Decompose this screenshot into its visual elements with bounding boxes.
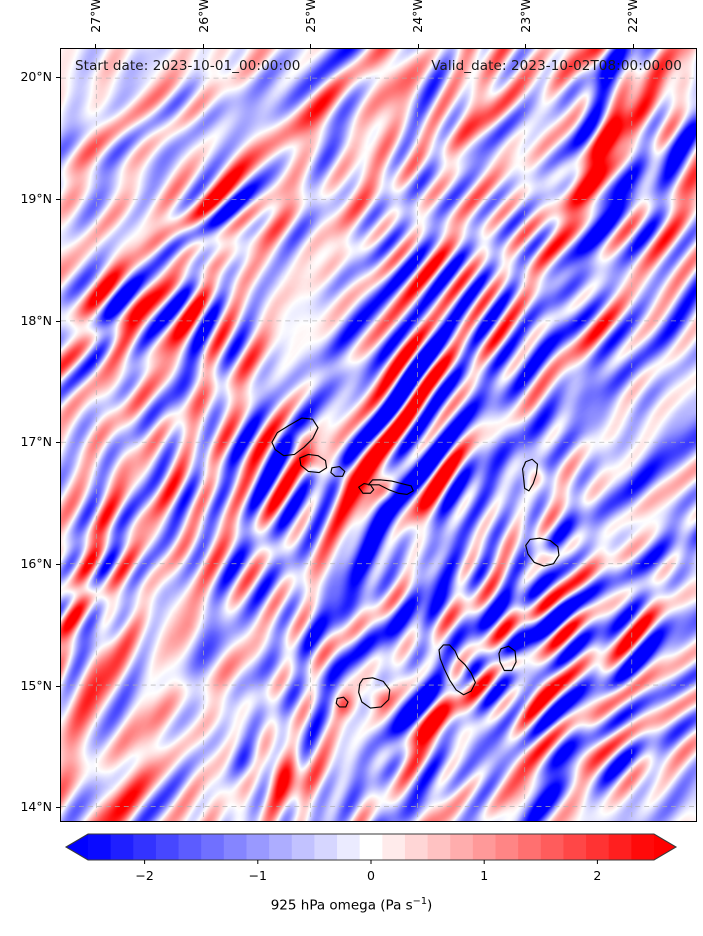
x-tickmark bbox=[525, 44, 526, 48]
colorbar-swatch bbox=[201, 834, 224, 860]
colorbar-swatch bbox=[631, 834, 654, 860]
y-tickmark bbox=[56, 564, 60, 565]
x-tickmark bbox=[203, 44, 204, 48]
y-tickmark bbox=[56, 686, 60, 687]
map-axes[interactable]: Start date: 2023-10-01_00:00:00 Valid_da… bbox=[60, 48, 697, 822]
colorbar-swatch bbox=[450, 834, 473, 860]
colorbar-swatch bbox=[133, 834, 156, 860]
colorbar-swatch bbox=[496, 834, 519, 860]
y-tickmark bbox=[56, 442, 60, 443]
colorbar-swatch bbox=[360, 834, 383, 860]
colorbar-title-suffix: ) bbox=[427, 898, 432, 914]
colorbar-tick-label: −1 bbox=[228, 868, 288, 883]
colorbar-tick-label: 2 bbox=[567, 868, 627, 883]
colorbar-title: 925 hPa omega (Pa s−1) bbox=[0, 896, 703, 914]
colorbar-swatch bbox=[224, 834, 247, 860]
x-tick-label: 24°W bbox=[388, 8, 448, 23]
y-tick-label: 18°N bbox=[0, 313, 52, 328]
colorbar-swatch bbox=[563, 834, 586, 860]
y-tick-label: 16°N bbox=[0, 556, 52, 571]
y-tickmark bbox=[56, 77, 60, 78]
colorbar-swatch bbox=[88, 834, 111, 860]
colorbar-tick-label: 0 bbox=[341, 868, 401, 883]
x-tick-label: 27°W bbox=[65, 8, 125, 23]
figure-canvas: Start date: 2023-10-01_00:00:00 Valid_da… bbox=[0, 0, 703, 936]
colorbar-extend-min-arrow bbox=[66, 834, 88, 860]
x-tickmark bbox=[95, 44, 96, 48]
x-tickmark bbox=[418, 44, 419, 48]
colorbar-extend-max-arrow bbox=[654, 834, 676, 860]
colorbar-swatch bbox=[179, 834, 202, 860]
colorbar-swatch bbox=[156, 834, 179, 860]
colorbar-swatch bbox=[111, 834, 134, 860]
x-tick-label: 22°W bbox=[603, 8, 663, 23]
y-tickmark bbox=[56, 199, 60, 200]
valid-date-annotation: Valid_date: 2023-10-02T08:00:00.00 bbox=[431, 58, 682, 74]
y-tick-label: 19°N bbox=[0, 191, 52, 206]
colorbar-swatch bbox=[586, 834, 609, 860]
y-tick-label: 14°N bbox=[0, 799, 52, 814]
x-tick-label: 26°W bbox=[173, 8, 233, 23]
colorbar-swatch bbox=[473, 834, 496, 860]
omega-heatmap bbox=[61, 49, 696, 821]
colorbar-swatch bbox=[292, 834, 315, 860]
y-tick-label: 15°N bbox=[0, 678, 52, 693]
start-date-annotation: Start date: 2023-10-01_00:00:00 bbox=[75, 58, 301, 74]
colorbar-tick-label: −2 bbox=[115, 868, 175, 883]
y-tick-label: 17°N bbox=[0, 434, 52, 449]
colorbar-swatch bbox=[314, 834, 337, 860]
colorbar-swatch bbox=[541, 834, 564, 860]
colorbar-swatch bbox=[337, 834, 360, 860]
colorbar-swatch bbox=[269, 834, 292, 860]
y-tickmark bbox=[56, 321, 60, 322]
x-tick-label: 23°W bbox=[495, 8, 555, 23]
x-tickmark bbox=[633, 44, 634, 48]
colorbar-swatch bbox=[382, 834, 405, 860]
colorbar-tick-label: 1 bbox=[454, 868, 514, 883]
colorbar-swatch bbox=[428, 834, 451, 860]
colorbar-title-prefix: 925 hPa omega (Pa s bbox=[271, 898, 413, 914]
colorbar-title-exponent: −1 bbox=[413, 896, 427, 907]
colorbar-swatch bbox=[405, 834, 428, 860]
colorbar-swatch bbox=[246, 834, 269, 860]
x-tickmark bbox=[310, 44, 311, 48]
y-tick-label: 20°N bbox=[0, 69, 52, 84]
colorbar-swatch bbox=[518, 834, 541, 860]
y-tickmark bbox=[56, 807, 60, 808]
x-tick-label: 25°W bbox=[280, 8, 340, 23]
colorbar-swatch bbox=[609, 834, 632, 860]
colorbar[interactable]: −2−1012 925 hPa omega (Pa s−1) bbox=[0, 830, 703, 936]
